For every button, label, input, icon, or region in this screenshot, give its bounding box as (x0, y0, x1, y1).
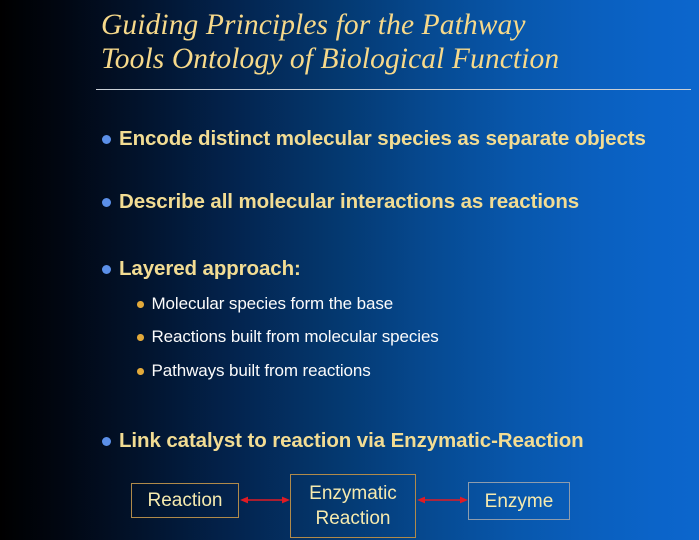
enzymatic-reaction-diagram: Reaction Enzymatic Reaction Enzyme (0, 0, 699, 540)
diagram-box-label: Enzymatic Reaction (309, 481, 397, 531)
diagram-box-label: Enzyme (485, 489, 554, 514)
diagram-box-reaction[interactable]: Reaction (131, 483, 239, 518)
connector-reaction-to-enzymatic (239, 493, 291, 507)
diagram-box-enzyme[interactable]: Enzyme (468, 482, 570, 520)
presentation-slide: Guiding Principles for the Pathway Tools… (0, 0, 699, 540)
diagram-box-enzymatic-reaction[interactable]: Enzymatic Reaction (290, 474, 416, 538)
diagram-box-label: Reaction (148, 488, 223, 513)
connector-enzymatic-to-enzyme (416, 493, 469, 507)
